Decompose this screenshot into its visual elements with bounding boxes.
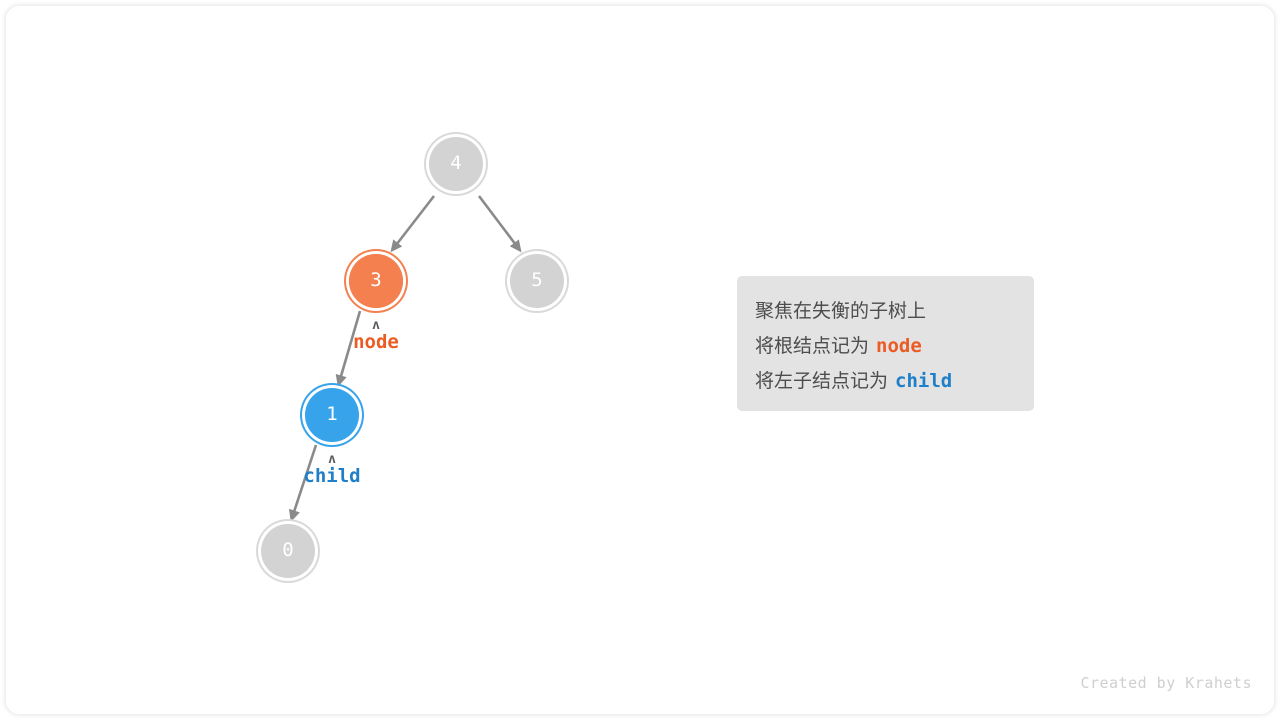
pointer-name-child: child: [303, 467, 360, 486]
tree-node-1: 1: [305, 388, 359, 442]
caption-line-2: 将根结点记为node: [755, 329, 1034, 364]
caption-line-2-text: 将根结点记为: [755, 336, 869, 357]
tree-node-1-label: 1: [326, 405, 337, 424]
caption-line-1: 聚焦在失衡的子树上: [755, 294, 1034, 329]
tree-node-5: 5: [510, 254, 564, 308]
caption-line-2-code: node: [869, 335, 922, 357]
caption-line-1-text: 聚焦在失衡的子树上: [755, 301, 926, 322]
edge-4-3: [393, 196, 434, 249]
caption-line-3-code: child: [888, 370, 952, 392]
caption-line-3: 将左子结点记为child: [755, 364, 1034, 399]
watermark-credit: Created by Krahets: [1080, 674, 1252, 692]
pointer-name-node: node: [353, 333, 399, 352]
edge-4-5: [479, 196, 519, 249]
caption-box: 聚焦在失衡的子树上 将根结点记为node 将左子结点记为child: [737, 276, 1034, 411]
tree-node-5-label: 5: [531, 271, 542, 290]
caption-line-3-text: 将左子结点记为: [755, 371, 888, 392]
tree-edges-layer: [6, 6, 1274, 714]
illustration-card: 4 3 5 1 0 ʌ node ʌ child 聚焦在失衡的子树上: [6, 6, 1274, 714]
pointer-label-node: ʌ node: [353, 319, 399, 352]
tree-node-0-label: 0: [282, 541, 293, 560]
tree-node-3-label: 3: [370, 271, 381, 290]
pointer-label-child: ʌ child: [303, 453, 360, 486]
tree-node-4: 4: [429, 137, 483, 191]
tree-node-0: 0: [261, 524, 315, 578]
tree-node-4-label: 4: [450, 154, 461, 173]
screenshot-canvas: 4 3 5 1 0 ʌ node ʌ child 聚焦在失衡的子树上: [0, 0, 1280, 720]
tree-node-3: 3: [349, 254, 403, 308]
